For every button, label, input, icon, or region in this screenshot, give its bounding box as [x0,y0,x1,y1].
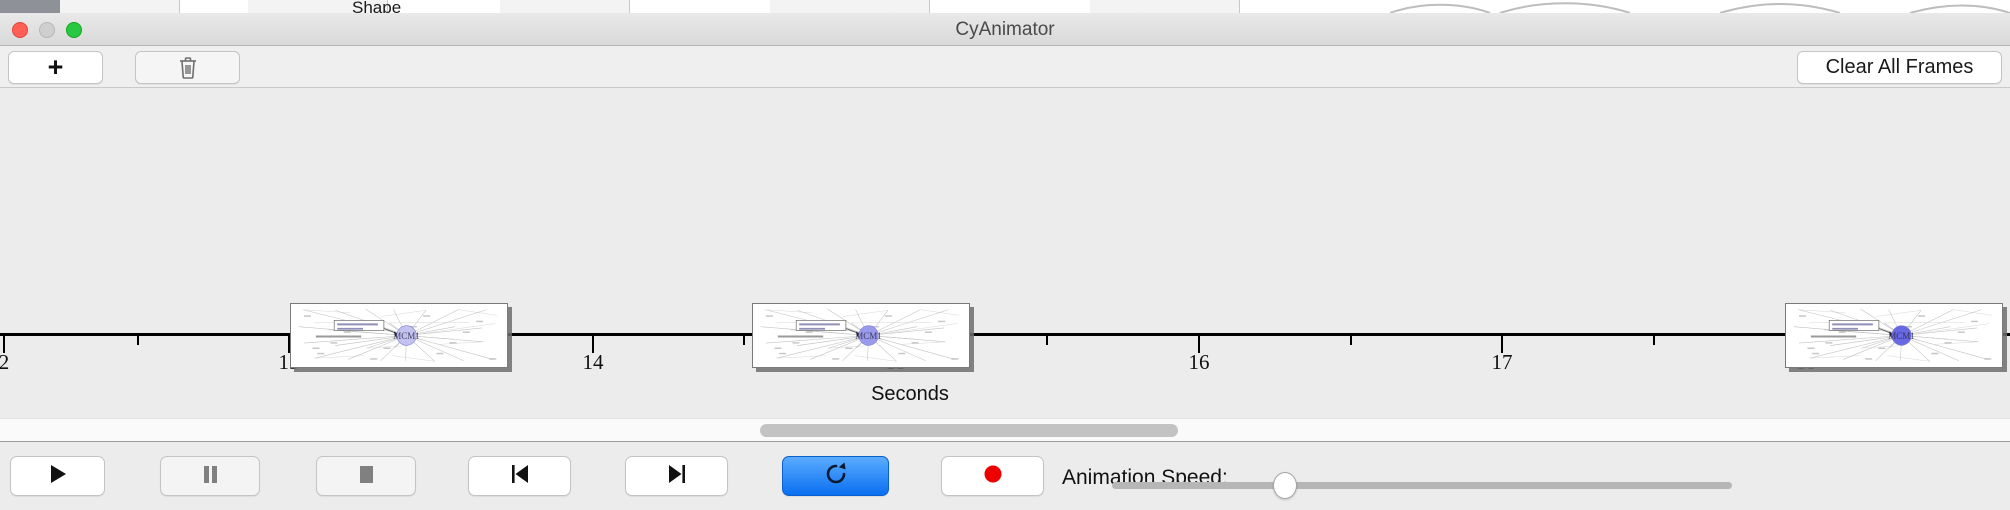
pause-button [160,456,260,496]
add-frame-button[interactable]: + [8,51,103,84]
svg-text:MCM1: MCM1 [1888,331,1915,341]
skip-back-icon [508,462,532,491]
timeline-tick [1653,336,1655,345]
record-icon [981,462,1005,491]
svg-text:MCM1: MCM1 [393,331,420,341]
animation-speed-slider-knob[interactable] [1273,472,1297,499]
timeline-tick [137,336,139,345]
stop-icon [355,462,377,491]
background-curve-decoration [1390,0,2010,13]
window-title: CyAnimator [0,19,2010,41]
pause-icon [199,462,221,491]
timeline-tick-label: 16 [1189,350,1210,375]
timeline-tick-label: 14 [583,350,604,375]
title-bar: CyAnimator [0,13,2010,46]
skip-to-end-button[interactable] [625,456,728,496]
clear-all-frames-button[interactable]: Clear All Frames [1797,51,2002,84]
delete-frame-button[interactable] [135,51,240,84]
timeline-frame-3[interactable]: MCM1 [1785,303,2003,368]
timeline-tick-label: 2 [0,350,9,375]
timeline-tick [1046,336,1048,345]
playback-control-bar: Animation Speed: [0,443,2010,510]
plus-icon: + [48,54,64,81]
background-tab [500,0,630,13]
timeline-tick [1350,336,1352,345]
timeline-tick [743,336,745,345]
loop-button[interactable] [782,456,889,496]
background-tab [1090,0,1240,13]
play-icon [47,462,69,491]
timeline-tick-label: 17 [1492,350,1513,375]
timeline-frame-1[interactable]: MCM1 [290,303,508,368]
trash-icon [178,56,198,80]
timeline-axis-title: Seconds [0,383,2010,406]
cyanimator-window: Shape CyAnimator + [0,0,2010,510]
timeline-panel[interactable]: Seconds 2131415161718 MCM1 MCM1 [0,88,2010,418]
background-tab [60,0,180,13]
background-window-label: Shape [352,0,401,13]
background-window-strip: Shape [0,0,2010,13]
timeline-scrollbar[interactable] [0,418,2010,442]
timeline-axis-title-label: Seconds [871,383,949,405]
record-button[interactable] [941,456,1044,496]
animation-speed-slider-track[interactable] [1112,482,1732,489]
skip-to-start-button[interactable] [468,456,571,496]
frame-toolbar: + Clear All Frames [0,46,2010,88]
clear-all-frames-label: Clear All Frames [1826,56,1974,79]
background-dark-tab [0,0,60,13]
timeline-content: Seconds 2131415161718 MCM1 MCM1 [0,88,2010,418]
stop-button [316,456,416,496]
timeline-frame-2[interactable]: MCM1 [752,303,970,368]
play-button[interactable] [10,456,105,496]
loop-icon [823,461,849,492]
skip-forward-icon [665,462,689,491]
timeline-scrollbar-thumb[interactable] [760,424,1178,437]
svg-text:MCM1: MCM1 [855,331,882,341]
background-tab [770,0,930,13]
